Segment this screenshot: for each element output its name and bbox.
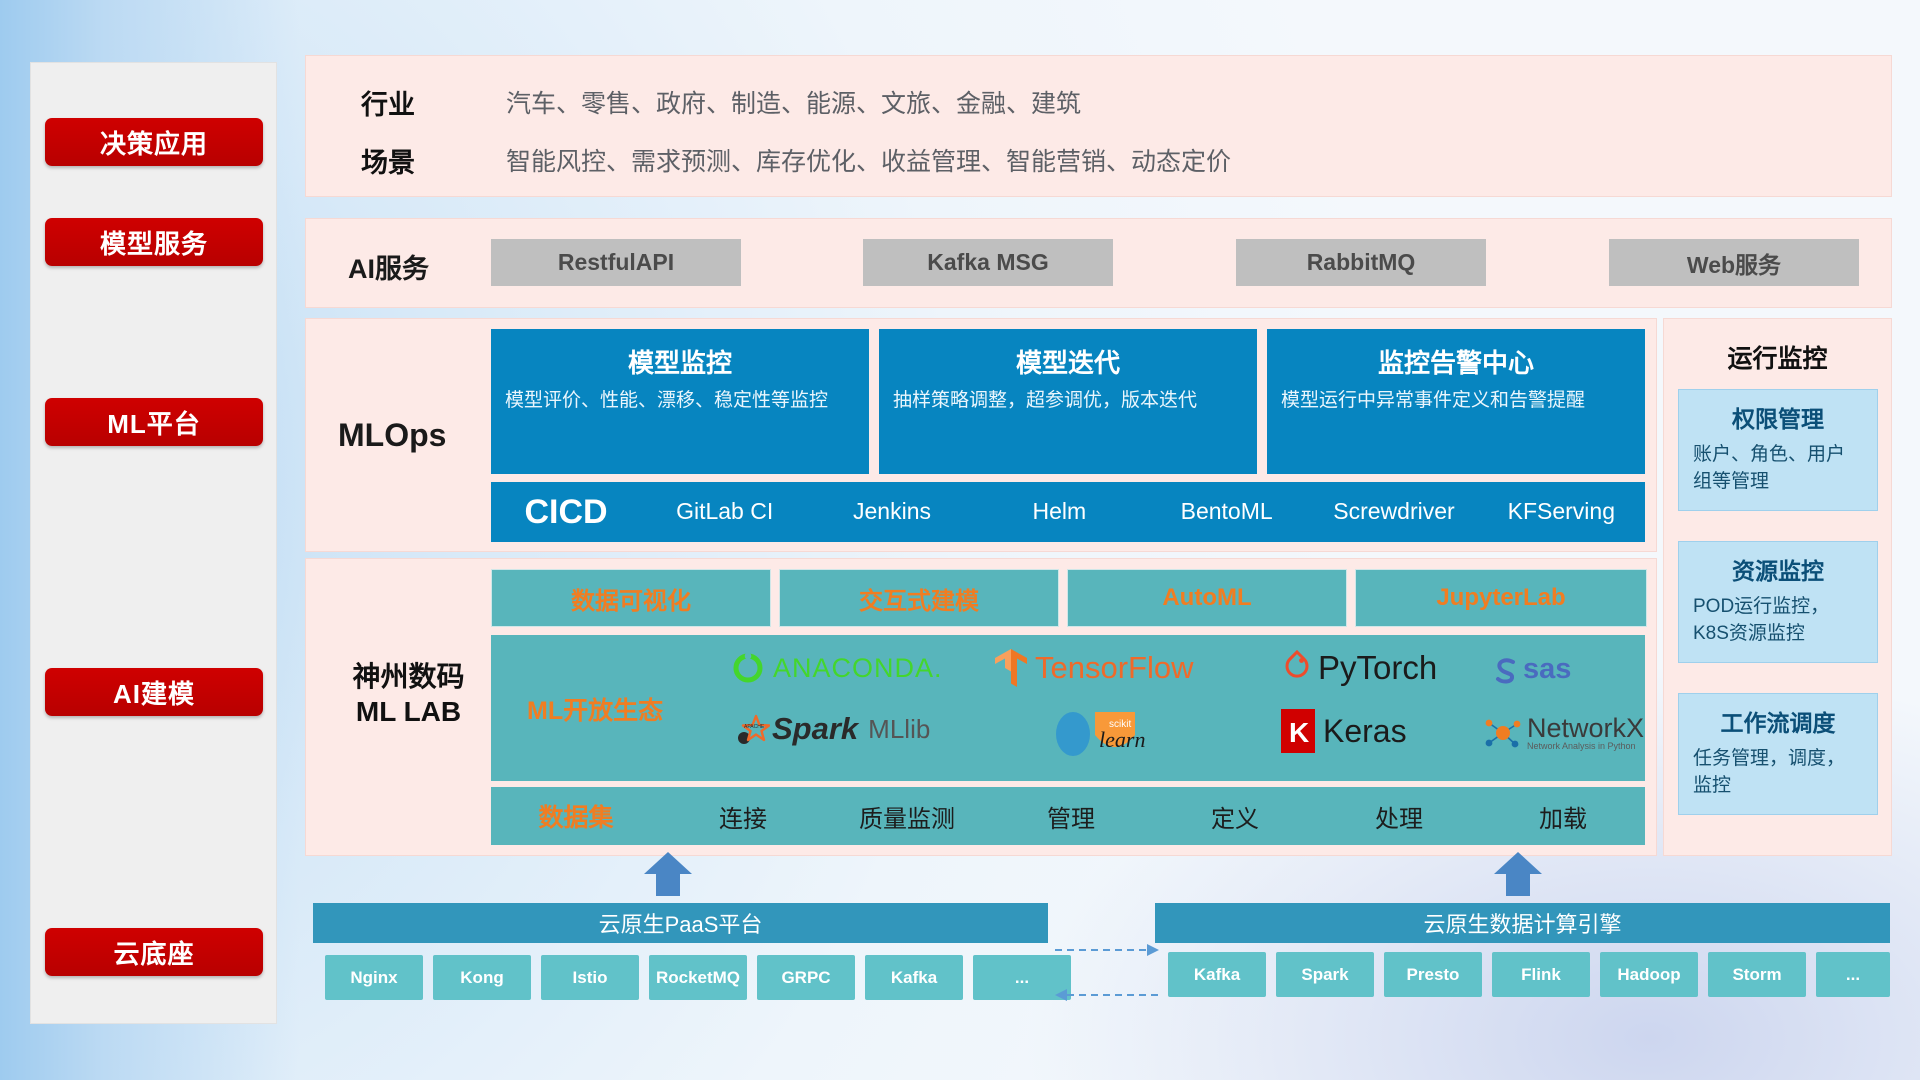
rail-item-label: ML平台 xyxy=(107,404,201,441)
cicd-item-helm[interactable]: Helm xyxy=(976,499,1143,524)
layer-rail: 决策应用 模型服务 ML平台 AI建模 云底座 xyxy=(30,62,277,1024)
engine-chip-hadoop[interactable]: Hadoop xyxy=(1600,952,1698,997)
service-chip-restfulapi[interactable]: RestfulAPI xyxy=(491,239,741,286)
engine-chip-kafka[interactable]: Kafka xyxy=(1168,952,1266,997)
dataset-item-load[interactable]: 加载 xyxy=(1481,799,1645,834)
anaconda-logo-text: ANACONDA. xyxy=(773,653,943,684)
svg-text:learn: learn xyxy=(1099,727,1145,752)
arrow-up-paas-icon xyxy=(640,852,696,896)
industry-value: 汽车、零售、政府、制造、能源、文旅、金融、建筑 xyxy=(506,84,1081,120)
paas-title: 云原生PaaS平台 xyxy=(599,907,763,939)
mlops-card-desc: 模型运行中异常事件定义和告警提醒 xyxy=(1267,380,1645,414)
modeling-tab-label: AutoML xyxy=(1162,584,1251,612)
anaconda-logo: ANACONDA. xyxy=(731,651,943,685)
industry-panel: 行业 汽车、零售、政府、制造、能源、文旅、金融、建筑 场景 智能风控、需求预测、… xyxy=(305,55,1892,197)
pytorch-logo-text: PyTorch xyxy=(1318,649,1437,687)
mlops-card-model-monitor[interactable]: 模型监控 模型评价、性能、漂移、稳定性等监控 xyxy=(491,329,869,474)
modeling-tab-automl[interactable]: AutoML xyxy=(1067,569,1347,627)
engine-chip-more[interactable]: ... xyxy=(1816,952,1890,997)
dataset-item-process[interactable]: 处理 xyxy=(1317,799,1481,834)
mlops-label: MLOps xyxy=(338,417,446,454)
architecture-diagram: 决策应用 模型服务 ML平台 AI建模 云底座 行业 汽车、零售、政府、制造、能… xyxy=(0,0,1920,1080)
monitoring-card-permissions[interactable]: 权限管理 账户、角色、用户组等管理 xyxy=(1678,389,1878,511)
paas-chip-label: Kong xyxy=(460,969,503,987)
paas-chip-grpc[interactable]: GRPC xyxy=(757,955,855,1000)
modeling-label: 神州数码 ML LAB xyxy=(326,659,491,729)
mlops-card-desc: 模型评价、性能、漂移、稳定性等监控 xyxy=(491,380,869,414)
service-chip-label: RestfulAPI xyxy=(558,249,674,276)
engine-chip-spark[interactable]: Spark xyxy=(1276,952,1374,997)
monitoring-card-desc: 任务管理，调度，监控 xyxy=(1679,738,1877,799)
mllib-logo-text: MLlib xyxy=(868,714,930,745)
modeling-tab-interactive[interactable]: 交互式建模 xyxy=(779,569,1059,627)
ai-service-panel: AI服务 RestfulAPI Kafka MSG RabbitMQ Web服务 xyxy=(305,218,1892,308)
service-chip-label: Web服务 xyxy=(1687,246,1781,280)
service-chip-kafka[interactable]: Kafka MSG xyxy=(863,239,1113,286)
engine-chip-label: Storm xyxy=(1732,966,1781,984)
engine-chip-label: Kafka xyxy=(1194,966,1240,984)
cicd-item-screwdriver[interactable]: Screwdriver xyxy=(1310,499,1477,524)
pytorch-logo: PyTorch xyxy=(1281,649,1437,687)
scikit-learn-logo: scikit learn xyxy=(1051,707,1169,759)
modeling-panel: 神州数码 ML LAB 数据可视化 交互式建模 AutoML JupyterLa… xyxy=(305,558,1657,856)
engine-chip-label: Spark xyxy=(1301,966,1348,984)
networkx-logo-text: NetworkX xyxy=(1527,715,1644,742)
paas-chip-kong[interactable]: Kong xyxy=(433,955,531,1000)
modeling-tab-label: 数据可视化 xyxy=(571,581,691,616)
service-chip-label: RabbitMQ xyxy=(1307,249,1416,276)
networkx-logo-subtext: Network Analysis in Python xyxy=(1527,742,1644,751)
monitoring-card-desc: 账户、角色、用户组等管理 xyxy=(1679,434,1877,495)
rail-item-decision[interactable]: 决策应用 xyxy=(45,118,263,166)
engine-chip-label: Hadoop xyxy=(1617,966,1680,984)
ai-service-label: AI服务 xyxy=(348,247,429,286)
spark-mllib-logo: APACHE Spark MLlib xyxy=(736,711,930,747)
dataset-item-connect[interactable]: 连接 xyxy=(661,799,825,834)
engine-chip-label: ... xyxy=(1846,966,1860,984)
engine-chip-storm[interactable]: Storm xyxy=(1708,952,1806,997)
cicd-item-kfserving[interactable]: KFServing xyxy=(1478,499,1645,524)
paas-chip-label: RocketMQ xyxy=(656,969,740,987)
arrow-up-engine-icon xyxy=(1490,852,1546,896)
monitoring-card-title: 资源监控 xyxy=(1679,542,1877,586)
scenario-label: 场景 xyxy=(361,141,415,180)
rail-item-ml-platform[interactable]: ML平台 xyxy=(45,398,263,446)
mlops-panel: MLOps 模型监控 模型评价、性能、漂移、稳定性等监控 模型迭代 抽样策略调整… xyxy=(305,318,1657,552)
rail-item-cloud-base[interactable]: 云底座 xyxy=(45,928,263,976)
paas-chip-kafka[interactable]: Kafka xyxy=(865,955,963,1000)
monitoring-card-desc: POD运行监控，K8S资源监控 xyxy=(1679,586,1877,647)
mlops-card-model-iteration[interactable]: 模型迭代 抽样策略调整，超参调优，版本迭代 xyxy=(879,329,1257,474)
service-chip-rabbitmq[interactable]: RabbitMQ xyxy=(1236,239,1486,286)
rail-item-model-service[interactable]: 模型服务 xyxy=(45,218,263,266)
paas-chip-istio[interactable]: Istio xyxy=(541,955,639,1000)
paas-chip-label: Istio xyxy=(573,969,608,987)
monitoring-card-resources[interactable]: 资源监控 POD运行监控，K8S资源监控 xyxy=(1678,541,1878,663)
sas-logo: sas xyxy=(1491,653,1571,686)
rail-item-label: 模型服务 xyxy=(100,224,208,261)
svg-text:APACHE: APACHE xyxy=(744,724,765,730)
networkx-logo-textblock: NetworkX Network Analysis in Python xyxy=(1527,715,1644,751)
cicd-label: CICD xyxy=(491,493,641,532)
monitoring-card-title: 工作流调度 xyxy=(1679,694,1877,738)
monitoring-panel: 运行监控 权限管理 账户、角色、用户组等管理 资源监控 POD运行监控，K8S资… xyxy=(1663,318,1892,856)
engine-chip-presto[interactable]: Presto xyxy=(1384,952,1482,997)
paas-chip-label: ... xyxy=(1015,969,1029,987)
monitoring-card-title: 权限管理 xyxy=(1679,390,1877,434)
modeling-label-line2: ML LAB xyxy=(326,694,491,729)
service-chip-web[interactable]: Web服务 xyxy=(1609,239,1859,286)
sas-logo-text: sas xyxy=(1523,653,1571,686)
engine-chip-label: Flink xyxy=(1521,966,1561,984)
monitoring-card-workflow[interactable]: 工作流调度 任务管理，调度，监控 xyxy=(1678,693,1878,815)
dataset-item-define[interactable]: 定义 xyxy=(1153,799,1317,834)
dashed-connector-left-icon xyxy=(1055,985,1160,1015)
tensorflow-logo: TensorFlow xyxy=(991,647,1194,689)
spark-logo-text: Spark xyxy=(772,711,858,747)
networkx-logo: NetworkX Network Analysis in Python xyxy=(1481,715,1644,751)
industry-label: 行业 xyxy=(361,83,415,122)
engine-chip-label: Presto xyxy=(1407,966,1460,984)
engine-chip-flink[interactable]: Flink xyxy=(1492,952,1590,997)
tensorflow-logo-text: TensorFlow xyxy=(1035,650,1194,686)
rail-item-label: AI建模 xyxy=(113,674,195,711)
rail-item-label: 决策应用 xyxy=(100,124,208,161)
paas-chip-nginx[interactable]: Nginx xyxy=(325,955,423,1000)
engine-title-bar: 云原生数据计算引擎 xyxy=(1155,903,1890,943)
svg-text:K: K xyxy=(1289,717,1309,748)
modeling-tab-jupyterlab[interactable]: JupyterLab xyxy=(1355,569,1647,627)
dataset-item-manage[interactable]: 管理 xyxy=(989,799,1153,834)
paas-title-bar: 云原生PaaS平台 xyxy=(313,903,1048,943)
cicd-item-bentoml[interactable]: BentoML xyxy=(1143,499,1310,524)
paas-chip-rocketmq[interactable]: RocketMQ xyxy=(649,955,747,1000)
mlops-card-title: 模型监控 xyxy=(491,329,869,380)
dataset-item-quality[interactable]: 质量监测 xyxy=(825,799,989,834)
scenario-value: 智能风控、需求预测、库存优化、收益管理、智能营销、动态定价 xyxy=(506,142,1231,178)
mlops-card-alert-center[interactable]: 监控告警中心 模型运行中异常事件定义和告警提醒 xyxy=(1267,329,1645,474)
mlops-card-title: 模型迭代 xyxy=(879,329,1257,380)
ml-ecosystem-label: ML开放生态 xyxy=(527,691,663,727)
cicd-item-jenkins[interactable]: Jenkins xyxy=(808,499,975,524)
rail-item-ai-modeling[interactable]: AI建模 xyxy=(45,668,263,716)
modeling-tab-label: 交互式建模 xyxy=(859,581,979,616)
modeling-label-line1: 神州数码 xyxy=(326,659,491,694)
cicd-item-gitlab[interactable]: GitLab CI xyxy=(641,499,808,524)
cicd-bar: CICD GitLab CI Jenkins Helm BentoML Scre… xyxy=(491,482,1645,542)
keras-logo-text: Keras xyxy=(1323,713,1407,750)
modeling-tab-label: JupyterLab xyxy=(1436,584,1565,612)
paas-chip-label: Kafka xyxy=(891,969,937,987)
dataset-label: 数据集 xyxy=(491,798,661,834)
paas-chip-label: GRPC xyxy=(781,969,830,987)
modeling-tab-dataviz[interactable]: 数据可视化 xyxy=(491,569,771,627)
engine-title: 云原生数据计算引擎 xyxy=(1423,907,1621,939)
service-chip-label: Kafka MSG xyxy=(927,249,1048,276)
keras-logo: K Keras xyxy=(1281,709,1407,753)
dataset-bar: 数据集 连接 质量监测 管理 定义 处理 加载 xyxy=(491,787,1645,845)
monitoring-title: 运行监控 xyxy=(1664,339,1891,375)
mlops-card-title: 监控告警中心 xyxy=(1267,329,1645,380)
rail-item-label: 云底座 xyxy=(113,934,194,971)
paas-chip-label: Nginx xyxy=(350,969,397,987)
mlops-card-desc: 抽样策略调整，超参调优，版本迭代 xyxy=(879,380,1257,414)
ml-ecosystem-band: ML开放生态 ANACONDA. TensorFlow PyTorch sas … xyxy=(491,635,1645,781)
